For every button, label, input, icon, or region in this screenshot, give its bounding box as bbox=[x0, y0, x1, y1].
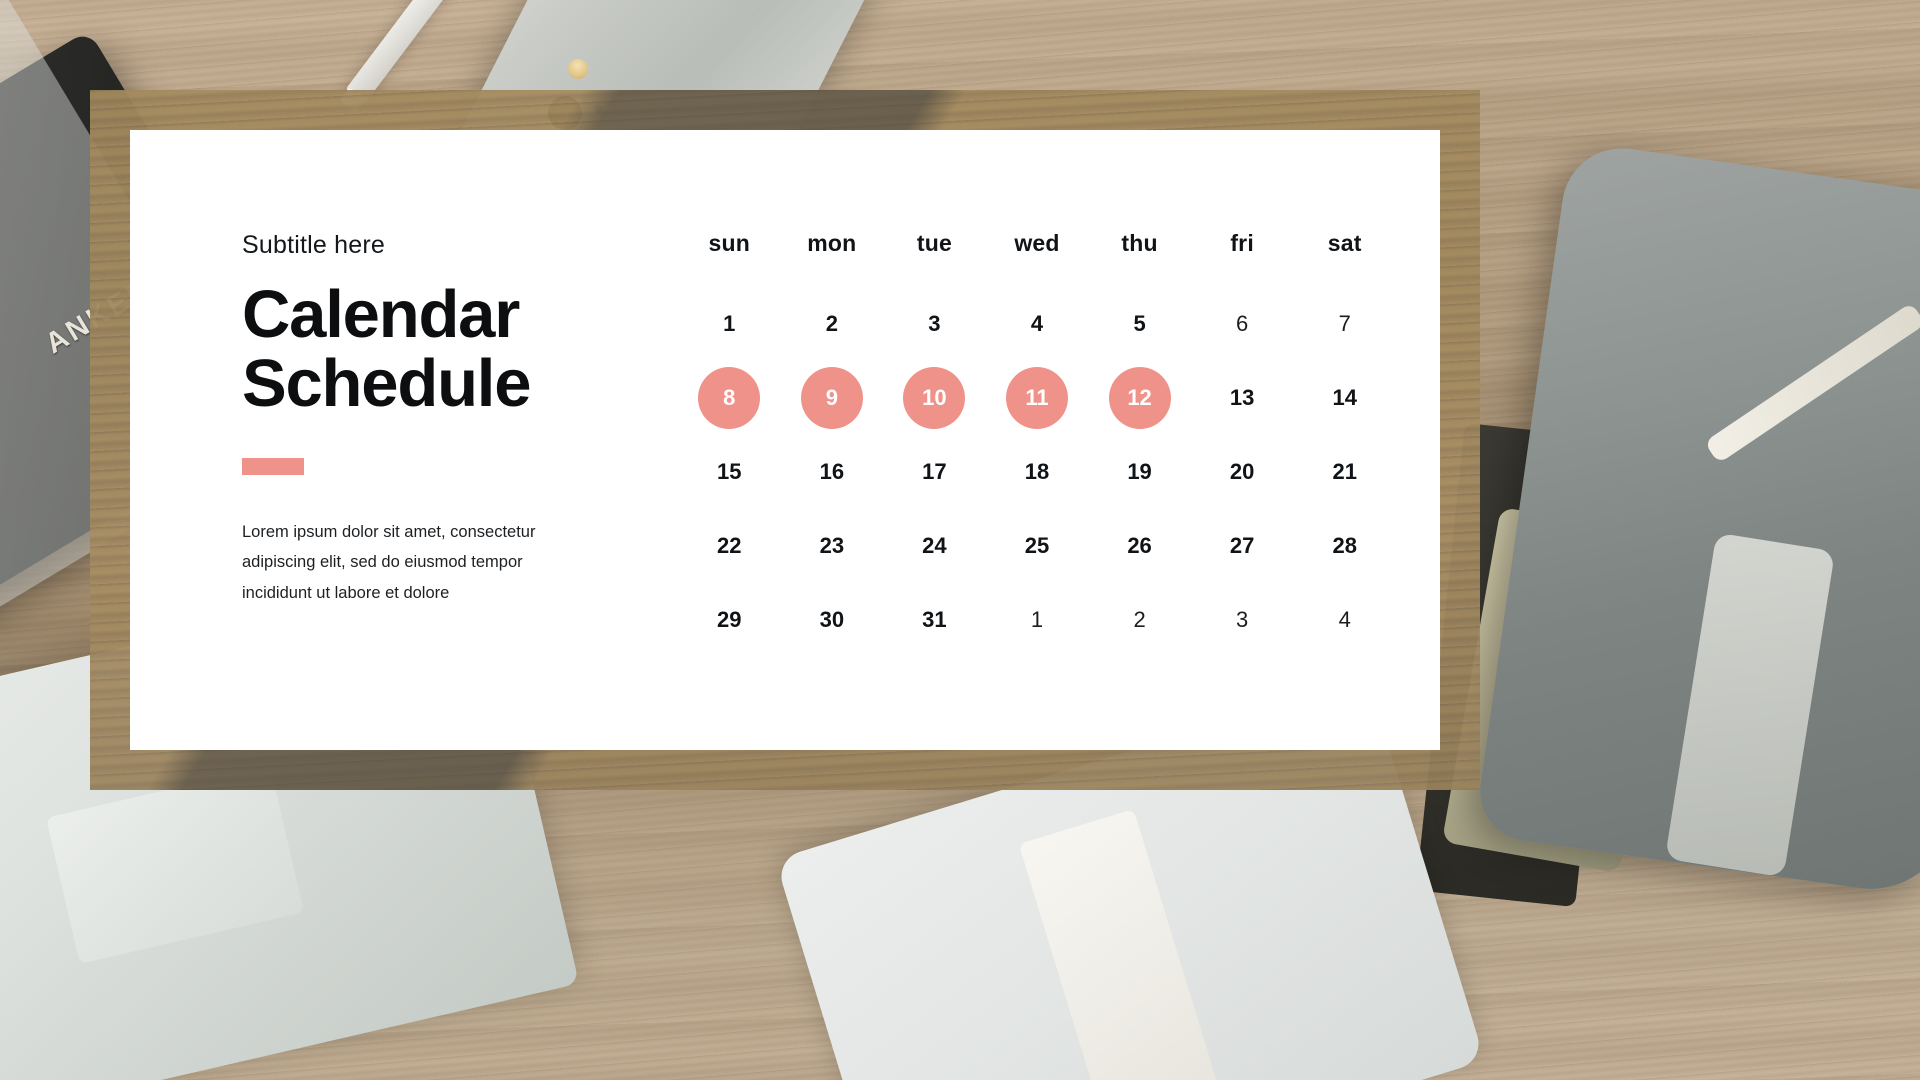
calendar-cell[interactable]: 5 bbox=[1088, 287, 1191, 361]
calendar-weekday-mon: mon bbox=[781, 230, 884, 263]
calendar-cell[interactable]: 24 bbox=[883, 509, 986, 583]
calendar-weekday-sat: sat bbox=[1293, 230, 1396, 263]
calendar-day[interactable]: 1 bbox=[698, 293, 760, 355]
calendar-day[interactable]: 19 bbox=[1109, 441, 1171, 503]
calendar-cell[interactable]: 29 bbox=[678, 583, 781, 657]
calendar-day-selected[interactable]: 12 bbox=[1109, 367, 1171, 429]
calendar-day[interactable]: 28 bbox=[1314, 515, 1376, 577]
calendar-cell[interactable]: 10 bbox=[883, 361, 986, 435]
calendar-cell[interactable]: 18 bbox=[986, 435, 1089, 509]
calendar-cell[interactable]: 22 bbox=[678, 509, 781, 583]
left-column: Subtitle here Calendar Schedule Lorem ip… bbox=[130, 130, 650, 750]
calendar-cell[interactable]: 4 bbox=[986, 287, 1089, 361]
calendar-cell[interactable]: 27 bbox=[1191, 509, 1294, 583]
calendar-day[interactable]: 1 bbox=[1006, 589, 1068, 651]
calendar-cell[interactable]: 8 bbox=[678, 361, 781, 435]
calendar-cell[interactable]: 28 bbox=[1293, 509, 1396, 583]
calendar-day[interactable]: 14 bbox=[1314, 367, 1376, 429]
calendar-day[interactable]: 16 bbox=[801, 441, 863, 503]
calendar-cell[interactable]: 1 bbox=[986, 583, 1089, 657]
calendar-day[interactable]: 21 bbox=[1314, 441, 1376, 503]
calendar-cell[interactable]: 16 bbox=[781, 435, 884, 509]
calendar-cell[interactable]: 20 bbox=[1191, 435, 1294, 509]
calendar-day[interactable]: 18 bbox=[1006, 441, 1068, 503]
page-title: Calendar Schedule bbox=[242, 280, 650, 418]
calendar-day[interactable]: 29 bbox=[698, 589, 760, 651]
calendar-cell[interactable]: 6 bbox=[1191, 287, 1294, 361]
calendar-weekday-fri: fri bbox=[1191, 230, 1294, 263]
calendar-cell[interactable]: 19 bbox=[1088, 435, 1191, 509]
calendar-cell[interactable]: 30 bbox=[781, 583, 884, 657]
calendar-cell[interactable]: 31 bbox=[883, 583, 986, 657]
calendar-cell[interactable]: 11 bbox=[986, 361, 1089, 435]
calendar-cell[interactable]: 7 bbox=[1293, 287, 1396, 361]
calendar-day[interactable]: 27 bbox=[1211, 515, 1273, 577]
calendar-weekday-wed: wed bbox=[986, 230, 1089, 263]
calendar-cell[interactable]: 26 bbox=[1088, 509, 1191, 583]
calendar-day[interactable]: 30 bbox=[801, 589, 863, 651]
calendar-cell[interactable]: 3 bbox=[883, 287, 986, 361]
title-line-2: Schedule bbox=[242, 349, 650, 418]
calendar-day-selected[interactable]: 8 bbox=[698, 367, 760, 429]
calendar-day[interactable]: 5 bbox=[1109, 293, 1171, 355]
calendar-header-spacer bbox=[678, 263, 1396, 287]
calendar-day[interactable]: 15 bbox=[698, 441, 760, 503]
calendar-day[interactable]: 20 bbox=[1211, 441, 1273, 503]
calendar-day-selected[interactable]: 10 bbox=[903, 367, 965, 429]
calendar-day-selected[interactable]: 11 bbox=[1006, 367, 1068, 429]
calendar-cell[interactable]: 13 bbox=[1191, 361, 1294, 435]
right-column: sunmontuewedthufrisat1234567891011121314… bbox=[650, 130, 1440, 750]
calendar-cell[interactable]: 12 bbox=[1088, 361, 1191, 435]
calendar-day-selected[interactable]: 9 bbox=[801, 367, 863, 429]
calendar-cell[interactable]: 2 bbox=[1088, 583, 1191, 657]
slide-stage: ANKER Subtitle here Calendar Schedule Lo… bbox=[0, 0, 1920, 1080]
calendar-day[interactable]: 2 bbox=[1109, 589, 1171, 651]
subtitle: Subtitle here bbox=[242, 230, 650, 260]
calendar-day[interactable]: 31 bbox=[903, 589, 965, 651]
calendar-cell[interactable]: 25 bbox=[986, 509, 1089, 583]
calendar-day[interactable]: 4 bbox=[1006, 293, 1068, 355]
body-paragraph: Lorem ipsum dolor sit amet, consectetur … bbox=[242, 517, 582, 608]
calendar-day[interactable]: 13 bbox=[1211, 367, 1273, 429]
calendar-day[interactable]: 24 bbox=[903, 515, 965, 577]
calendar-weekday-sun: sun bbox=[678, 230, 781, 263]
accent-bar bbox=[242, 458, 304, 475]
calendar-day[interactable]: 17 bbox=[903, 441, 965, 503]
calendar-cell[interactable]: 4 bbox=[1293, 583, 1396, 657]
title-line-1: Calendar bbox=[242, 280, 650, 349]
calendar-day[interactable]: 6 bbox=[1211, 293, 1273, 355]
calendar-cell[interactable]: 9 bbox=[781, 361, 884, 435]
calendar-day[interactable]: 3 bbox=[903, 293, 965, 355]
calendar-day[interactable]: 3 bbox=[1211, 589, 1273, 651]
calendar-weekday-thu: thu bbox=[1088, 230, 1191, 263]
calendar-day[interactable]: 26 bbox=[1109, 515, 1171, 577]
calendar-cell[interactable]: 21 bbox=[1293, 435, 1396, 509]
calendar-cell[interactable]: 17 bbox=[883, 435, 986, 509]
calendar-cell[interactable]: 2 bbox=[781, 287, 884, 361]
calendar-weekday-tue: tue bbox=[883, 230, 986, 263]
calendar-cell[interactable]: 14 bbox=[1293, 361, 1396, 435]
calendar-day[interactable]: 23 bbox=[801, 515, 863, 577]
calendar-cell[interactable]: 15 bbox=[678, 435, 781, 509]
calendar-cell[interactable]: 23 bbox=[781, 509, 884, 583]
calendar-day[interactable]: 4 bbox=[1314, 589, 1376, 651]
calendar-day[interactable]: 22 bbox=[698, 515, 760, 577]
calendar-cell[interactable]: 1 bbox=[678, 287, 781, 361]
calendar-cell[interactable]: 3 bbox=[1191, 583, 1294, 657]
calendar-day[interactable]: 2 bbox=[801, 293, 863, 355]
content-card: Subtitle here Calendar Schedule Lorem ip… bbox=[130, 130, 1440, 750]
calendar-day[interactable]: 25 bbox=[1006, 515, 1068, 577]
calendar-day[interactable]: 7 bbox=[1314, 293, 1376, 355]
calendar-grid: sunmontuewedthufrisat1234567891011121314… bbox=[678, 230, 1396, 657]
